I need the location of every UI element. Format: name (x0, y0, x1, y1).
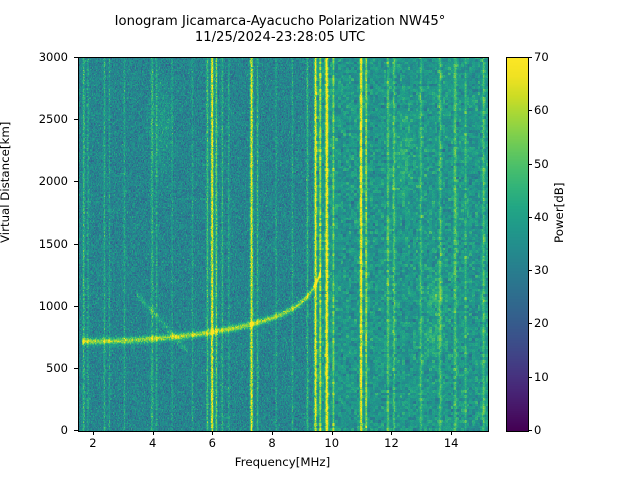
colorbar-tick-label: 0 (534, 423, 541, 437)
y-tick-label: 1500 (24, 237, 68, 251)
y-tick-mark (74, 181, 78, 182)
x-tick-label: 12 (384, 436, 399, 450)
colorbar-tick-label: 40 (534, 210, 549, 224)
colorbar-tick-label: 50 (534, 157, 549, 171)
colorbar-tick-mark (528, 57, 532, 58)
colorbar-tick-mark (528, 110, 532, 111)
y-tick-label: 0 (24, 423, 68, 437)
colorbar-label: Power[dB] (552, 183, 566, 243)
colorbar-tick-mark (528, 430, 532, 431)
y-tick-mark (74, 119, 78, 120)
colorbar-tick-label: 60 (534, 103, 549, 117)
colorbar-tick-label: 70 (534, 50, 549, 64)
x-tick-label: 2 (89, 436, 96, 450)
colorbar-tick-mark (528, 270, 532, 271)
x-tick-mark (451, 431, 452, 435)
colorbar-tick-label: 30 (534, 263, 549, 277)
colorbar-tick-mark (528, 164, 532, 165)
colorbar-tick-mark (528, 217, 532, 218)
ionogram-figure: Ionogram Jicamarca-Ayacucho Polarization… (0, 0, 640, 480)
x-tick-label: 10 (324, 436, 339, 450)
colorbar-tick-mark (528, 323, 532, 324)
colorbar-tick-label: 20 (534, 316, 549, 330)
x-tick-label: 6 (209, 436, 216, 450)
y-tick-mark (74, 244, 78, 245)
ionogram-heatmap (79, 58, 488, 431)
x-tick-label: 8 (268, 436, 275, 450)
y-tick-mark (74, 368, 78, 369)
y-tick-label: 3000 (24, 50, 68, 64)
x-tick-label: 4 (149, 436, 156, 450)
figure-title: Ionogram Jicamarca-Ayacucho Polarization… (0, 14, 560, 46)
x-tick-mark (212, 431, 213, 435)
y-tick-label: 2500 (24, 112, 68, 126)
y-tick-label: 1000 (24, 299, 68, 313)
ionogram-plot-area (78, 57, 489, 432)
y-tick-label: 2000 (24, 174, 68, 188)
x-axis-label: Frequency[MHz] (78, 455, 487, 469)
x-tick-mark (332, 431, 333, 435)
colorbar-tick-label: 10 (534, 370, 549, 384)
x-tick-mark (391, 431, 392, 435)
y-axis-label: Virtual Distance[km] (0, 122, 12, 243)
y-tick-label: 500 (24, 361, 68, 375)
x-tick-mark (93, 431, 94, 435)
colorbar-tick-mark (528, 377, 532, 378)
y-tick-mark (74, 430, 78, 431)
colorbar-gradient (507, 58, 528, 431)
y-tick-mark (74, 57, 78, 58)
x-tick-mark (272, 431, 273, 435)
x-tick-mark (153, 431, 154, 435)
x-tick-label: 14 (444, 436, 459, 450)
colorbar (506, 57, 529, 432)
y-tick-mark (74, 306, 78, 307)
